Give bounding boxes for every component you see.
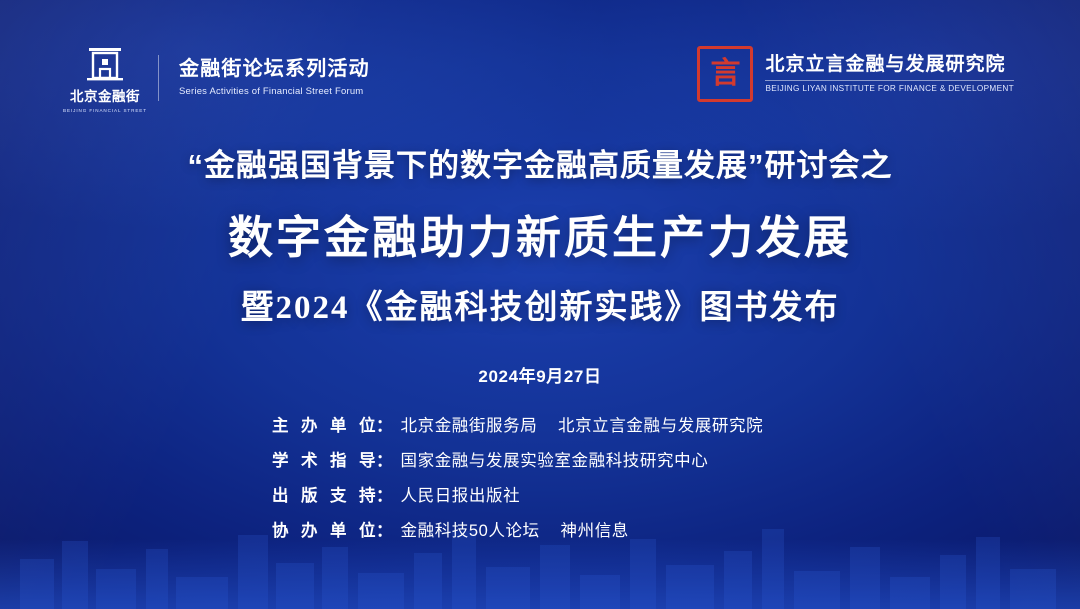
institute-title-cn: 北京立言金融与发展研究院 (765, 55, 1014, 76)
event-date: 2024年9月27日 (0, 362, 1080, 387)
credit-colon: ： (376, 447, 393, 471)
poster-title-block: “金融强国背景下的数字金融高质量发展”研讨会之 数字金融助力新质生产力发展 暨2… (0, 140, 1080, 387)
financial-street-mark-cn: 北京金融街 (70, 85, 140, 105)
seal-character: 言 (700, 49, 750, 99)
credit-colon: ： (376, 517, 393, 541)
logo-divider (158, 55, 159, 101)
credit-colon: ： (376, 412, 393, 436)
financial-street-mark: 北京金融街 BEIJING FINANCIAL STREET (72, 42, 138, 113)
credit-value: 人民日报出版社 (401, 482, 521, 506)
credit-row: 协办单位 ： 金融科技50人论坛 神州信息 (272, 517, 808, 541)
bottom-glow (0, 539, 1080, 609)
logo-beijing-financial-street: 北京金融街 BEIJING FINANCIAL STREET 金融街论坛系列活动… (72, 42, 370, 113)
forum-title-cn: 金融街论坛系列活动 (179, 58, 370, 81)
institute-title-block: 北京立言金融与发展研究院 BEIJING LIYAN INSTITUTE FOR… (765, 55, 1014, 94)
seal-icon: 言 (697, 46, 753, 102)
forum-title-block: 金融街论坛系列活动 Series Activities of Financial… (179, 58, 370, 97)
credit-label: 学术指导 (272, 447, 376, 471)
poster-canvas: 北京金融街 BEIJING FINANCIAL STREET 金融街论坛系列活动… (0, 0, 1080, 609)
credit-row: 出版支持 ： 人民日报出版社 (272, 482, 808, 506)
gate-icon (85, 42, 125, 82)
credit-row: 学术指导 ： 国家金融与发展实验室金融科技研究中心 (272, 447, 808, 471)
logo-liyan-institute: 言 北京立言金融与发展研究院 BEIJING LIYAN INSTITUTE F… (697, 46, 1014, 102)
forum-title-en: Series Activities of Financial Street Fo… (179, 86, 370, 97)
credit-label: 协办单位 (272, 517, 376, 541)
poster-title-line1: “金融强国背景下的数字金融高质量发展”研讨会之 (0, 140, 1080, 185)
credit-colon: ： (376, 482, 393, 506)
credit-value: 国家金融与发展实验室金融科技研究中心 (401, 447, 709, 471)
credit-label: 出版支持 (272, 482, 376, 506)
credit-value: 北京金融街服务局 北京立言金融与发展研究院 (401, 412, 764, 436)
poster-title-line3: 暨2024《金融科技创新实践》图书发布 (0, 280, 1080, 328)
credit-row: 主办单位 ： 北京金融街服务局 北京立言金融与发展研究院 (272, 412, 808, 436)
credit-value: 金融科技50人论坛 神州信息 (401, 517, 629, 541)
institute-title-en: BEIJING LIYAN INSTITUTE FOR FINANCE & DE… (765, 80, 1014, 93)
credits-block: 主办单位 ： 北京金融街服务局 北京立言金融与发展研究院 学术指导 ： 国家金融… (0, 412, 1080, 541)
poster-title-line2: 数字金融助力新质生产力发展 (0, 201, 1080, 266)
financial-street-mark-en: BEIJING FINANCIAL STREET (63, 108, 147, 113)
credit-label: 主办单位 (272, 412, 376, 436)
